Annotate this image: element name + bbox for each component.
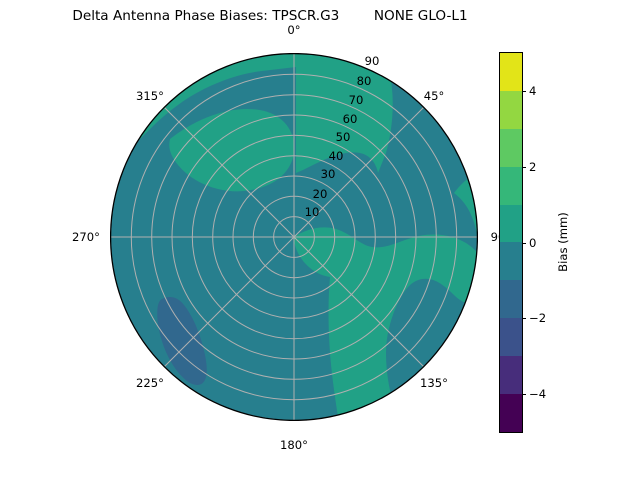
colorbar-band [500, 91, 522, 129]
radial-tick-20: 20 [313, 187, 328, 201]
colorbar-gradient-strip [500, 53, 522, 432]
colorbar-tick-mark [522, 318, 526, 319]
colorbar-tick-label: 4 [529, 84, 536, 98]
radial-tick-10: 10 [305, 205, 320, 219]
colorbar: 420−2−4 [499, 52, 523, 433]
colorbar-tick-mark [522, 394, 526, 395]
colorbar-band [500, 167, 522, 205]
polar-plot-canvas [110, 53, 478, 421]
radial-tick-30: 30 [321, 167, 336, 181]
angular-gridlines [111, 54, 477, 420]
figure-title: Delta Antenna Phase Biases: TPSCR.G3 NON… [0, 8, 540, 24]
radial-tick-80: 80 [357, 74, 372, 88]
colorbar-tick-mark [522, 167, 526, 168]
angular-tick-270: 270° [72, 230, 100, 244]
colorbar-band [500, 394, 522, 432]
colorbar-tick-label: 2 [529, 160, 536, 174]
radial-tick-50: 50 [336, 130, 351, 144]
radial-tick-70: 70 [349, 93, 364, 107]
colorbar-tick-mark [522, 91, 526, 92]
matplotlib-figure: Delta Antenna Phase Biases: TPSCR.G3 NON… [0, 0, 640, 480]
angular-tick-45: 45° [424, 89, 445, 103]
angular-tick-315: 315° [136, 89, 164, 103]
angular-tick-180: 180° [280, 438, 308, 452]
radial-tick-40: 40 [329, 149, 344, 163]
angular-tick-0: 0° [287, 23, 300, 37]
colorbar-band [500, 129, 522, 167]
colorbar-tick-label: −4 [529, 387, 546, 401]
radial-tick-60: 60 [343, 112, 358, 126]
colorbar-band [500, 53, 522, 91]
colorbar-tick-mark [522, 243, 526, 244]
colorbar-tick-label: −2 [529, 311, 546, 325]
colorbar-band [500, 205, 522, 243]
colorbar-band [500, 356, 522, 394]
colorbar-band [500, 318, 522, 356]
colorbar-tick-label: 0 [529, 236, 536, 250]
polar-axes [110, 53, 478, 421]
colorbar-axis-label: Bias (mm) [556, 212, 570, 272]
colorbar-band [500, 280, 522, 318]
colorbar-band [500, 242, 522, 280]
angular-tick-135: 135° [420, 376, 448, 390]
radial-tick-90: 90 [365, 54, 380, 68]
angular-tick-225: 225° [136, 376, 164, 390]
